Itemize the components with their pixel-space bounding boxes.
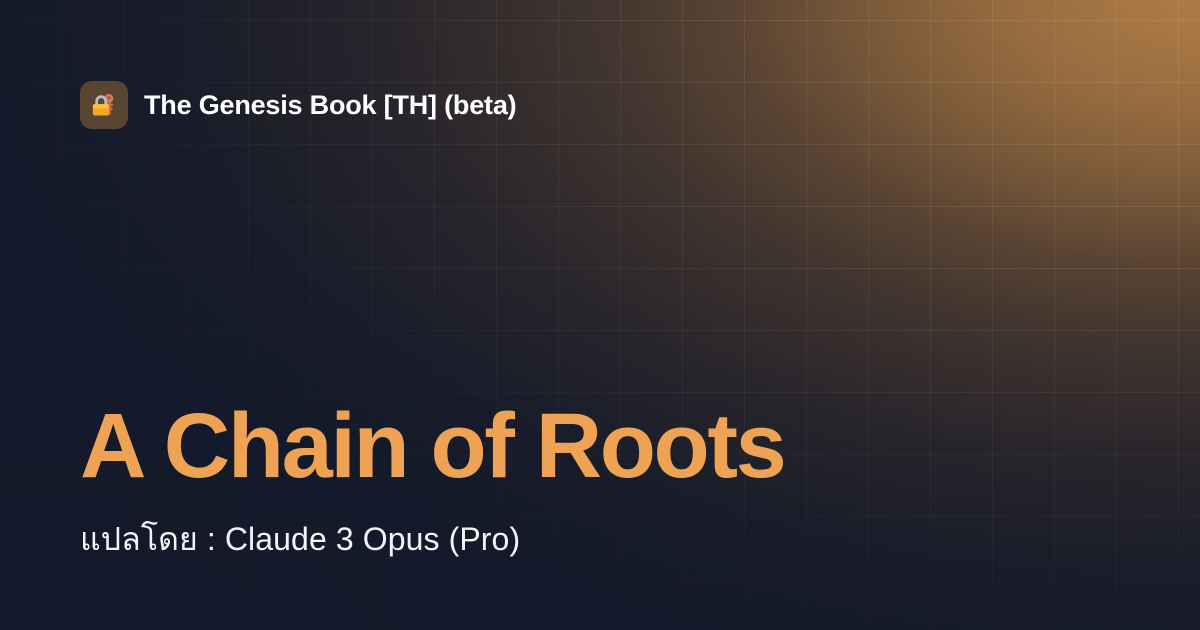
page-title: A Chain of Roots: [80, 400, 1120, 492]
brand-header: The Genesis Book [TH] (beta): [80, 81, 516, 129]
social-share-card: The Genesis Book [TH] (beta) A Chain of …: [0, 0, 1200, 630]
card-content: The Genesis Book [TH] (beta) A Chain of …: [0, 0, 1200, 630]
locked-with-key-icon: [80, 81, 128, 129]
translator-byline: แปลโดย : Claude 3 Opus (Pro): [80, 520, 1120, 558]
brand-title: The Genesis Book [TH] (beta): [144, 92, 516, 119]
headline-block: A Chain of Roots แปลโดย : Claude 3 Opus …: [80, 400, 1120, 558]
